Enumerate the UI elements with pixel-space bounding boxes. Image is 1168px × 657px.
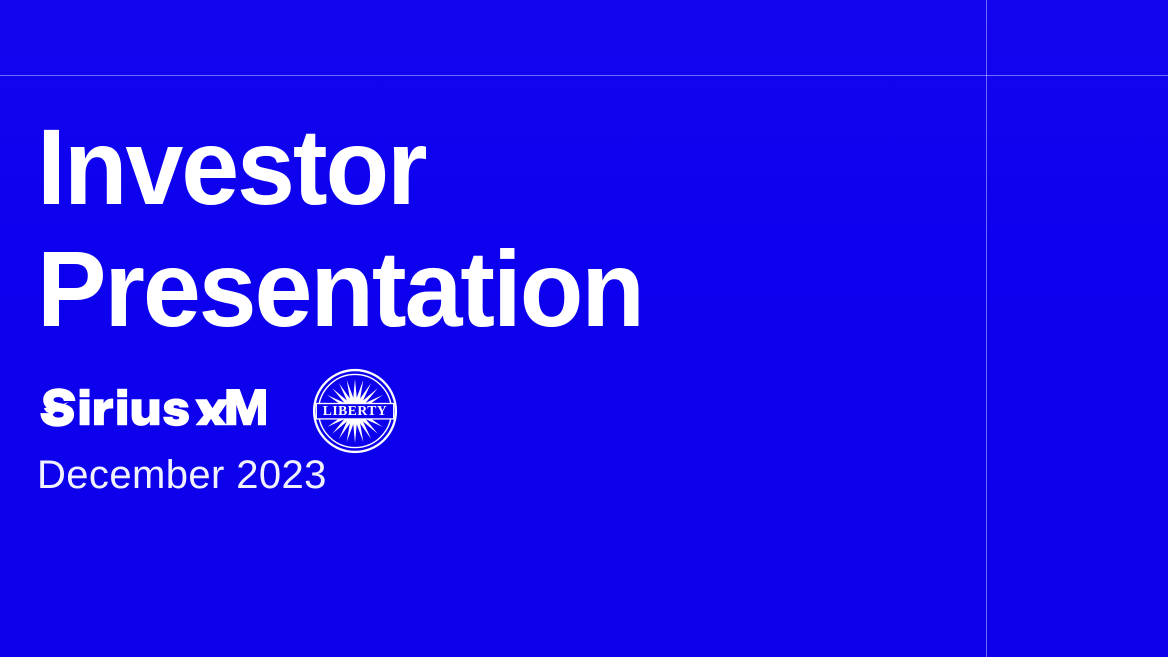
page-title: Investor Presentation (37, 106, 937, 350)
guide-line-vertical (986, 0, 988, 657)
siriusxm-logo (37, 387, 266, 433)
logo-row: LIBERTY (37, 368, 399, 452)
title-slide: Investor Presentation (0, 0, 1168, 657)
liberty-media-logo: LIBERTY (311, 367, 399, 455)
title-line-1: Investor (37, 106, 906, 228)
liberty-wordmark-text: LIBERTY (323, 403, 388, 418)
title-line-2: Presentation (37, 228, 906, 350)
guide-line-horizontal (0, 75, 1168, 77)
presentation-date: December 2023 (37, 452, 327, 498)
